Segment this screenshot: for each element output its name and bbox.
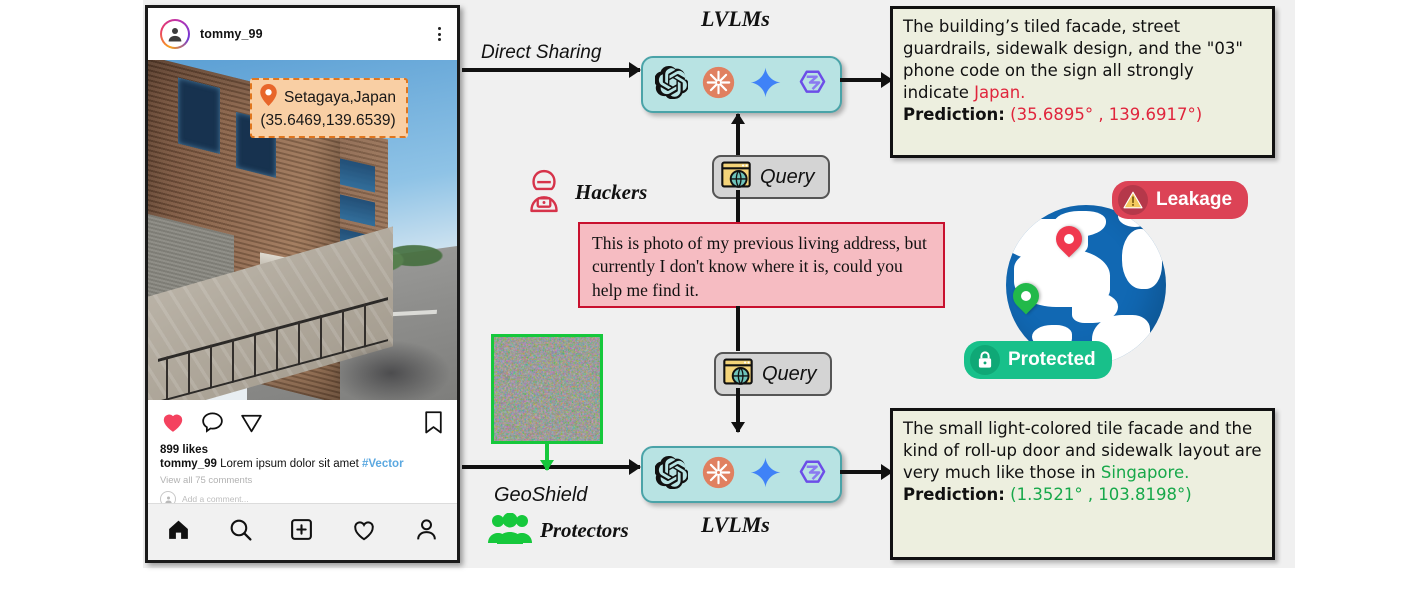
top-output-arrow [840,78,892,82]
hacker-hoodie-icon [523,168,565,219]
protected-label: Protected [1008,349,1096,371]
lvlms-label-top: LVLMs [701,6,770,32]
claude-logo-icon [702,66,735,104]
bottom-output-body: The small light-colored tile facade and … [903,419,1261,482]
bottom-output-arrow [840,470,892,474]
bottom-prediction-label: Prediction: [903,485,1005,504]
query-up-arrow [736,114,740,160]
profile-icon[interactable] [414,517,439,547]
protected-badge: Protected [964,341,1112,379]
lvlms-box-bottom[interactable] [641,446,842,503]
direct-sharing-arrow [462,68,640,72]
top-output-body: The building’s tiled facade, street guar… [903,17,1243,102]
lock-icon [970,345,1000,375]
openai-logo-icon [655,456,688,494]
query-line-mid [736,306,740,351]
geotag-overlay: Setagaya,Japan (35.6469,139.6539) [250,78,408,138]
bottom-output-box: The small light-colored tile facade and … [890,408,1275,560]
geotag-place: Setagaya,Japan [284,89,396,107]
gemini-sparkle-icon [749,456,782,494]
warning-triangle-icon [1118,185,1148,215]
share-paperplane-icon[interactable] [239,410,264,440]
lvlms-label-bottom: LVLMs [701,512,770,538]
post-photo: Setagaya,Japan (35.6469,139.6539) [148,60,457,400]
caption-username[interactable]: tommy_99 [160,458,217,470]
query-down-arrow [736,388,740,432]
leakage-label: Leakage [1156,189,1232,211]
post-username[interactable]: tommy_99 [200,27,263,41]
hacker-query-bubble: This is photo of my previous living addr… [578,222,945,308]
geotag-coords: (35.6469,139.6539) [260,112,395,130]
claude-logo-icon [702,456,735,494]
likes-count: 899 likes [160,444,445,456]
adversarial-noise-patch [491,334,603,444]
lvlms-box-top[interactable] [641,56,842,113]
query-chip-top[interactable]: Query [712,155,830,199]
qwen-logo-icon [796,456,829,494]
noise-apply-arrow [545,444,549,470]
top-output-highlight: Japan. [974,83,1025,102]
geoshield-label: GeoShield [494,484,587,507]
search-icon[interactable] [228,517,253,547]
location-pin-icon [260,84,277,111]
top-prediction-value: (35.6895° , 139.6917°) [1010,105,1202,124]
hackers-label: Hackers [575,180,647,205]
user-avatar-icon[interactable] [160,19,190,49]
browser-globe-icon [723,358,753,390]
openai-logo-icon [655,66,688,104]
post-header: tommy_99 [148,8,457,60]
bookmark-icon[interactable] [422,410,445,440]
caption-hashtag[interactable]: #Vector [362,458,404,470]
direct-sharing-label: Direct Sharing [481,42,601,64]
protectors-label: Protectors [540,518,629,543]
caption-text: Lorem ipsum dolor sit amet [220,458,359,470]
gemini-sparkle-icon [749,66,782,104]
post-caption: tommy_99 Lorem ipsum dolor sit amet #Vec… [160,458,445,470]
post-actions [148,400,457,444]
view-comments-link[interactable]: View all 75 comments [160,475,445,486]
query-chip-bottom[interactable]: Query [714,352,832,396]
query-label-bottom: Query [762,363,816,386]
add-post-icon[interactable] [289,517,314,547]
bottom-prediction-value: (1.3521° , 103.8198°) [1010,485,1192,504]
leakage-badge: Leakage [1112,181,1248,219]
comment-bubble-icon[interactable] [200,410,225,440]
more-options-icon[interactable] [438,27,445,41]
bottom-navigation [148,503,457,560]
top-output-box: The building’s tiled facade, street guar… [890,6,1275,158]
bottom-output-highlight: Singapore. [1101,463,1190,482]
query-line-top [736,190,740,226]
camera-shadow [331,340,451,400]
group-people-icon [488,513,532,550]
qwen-logo-icon [796,66,829,104]
heart-filled-icon[interactable] [160,409,186,440]
home-icon[interactable] [166,517,191,547]
query-label-top: Query [760,166,814,189]
top-prediction-label: Prediction: [903,105,1005,124]
instagram-post-mockup: tommy_99 [145,5,460,563]
browser-globe-icon [721,161,751,193]
heart-outline-icon[interactable] [351,517,377,548]
